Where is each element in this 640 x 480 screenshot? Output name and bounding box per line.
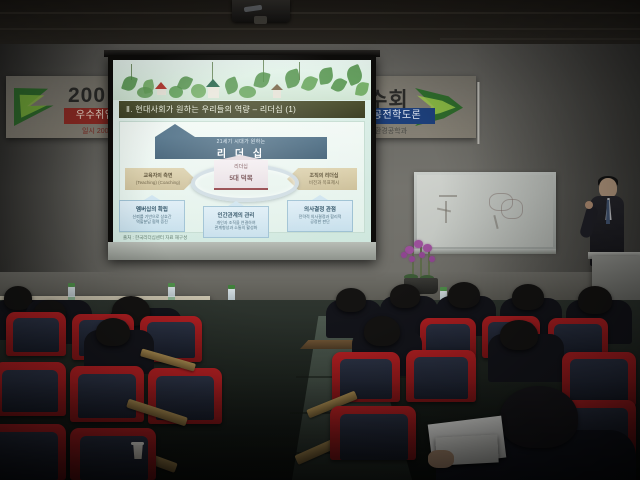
orchid-bloom	[409, 256, 415, 262]
audience-head-foreground	[500, 386, 578, 448]
bottle-cap	[228, 285, 235, 289]
slide-title: Ⅱ. 현대사회가 원하는 우리들의 역량 – 리더십 (1)	[119, 101, 365, 118]
audience-head	[578, 286, 612, 314]
slide-roof-peak	[155, 124, 195, 137]
seat-cushion	[340, 414, 408, 460]
audience-hand	[428, 450, 454, 468]
slide-hub-line2: 5대 덕목	[214, 172, 268, 182]
seat-cushion	[2, 370, 58, 412]
orchid-bloom	[423, 244, 432, 252]
orchid-bloom	[414, 240, 423, 248]
whiteboard-marker-tray	[414, 249, 556, 254]
audience-head	[390, 284, 420, 308]
slide-right-arrow-sub: 비전과 목표제시	[291, 180, 357, 186]
banner-year: 200	[68, 84, 106, 108]
slide-box-heading: 의사결정 관점	[287, 205, 353, 213]
seat-cushion	[570, 359, 628, 403]
slide-roof-subtitle: 21세기 시대가 원하는	[155, 138, 327, 145]
ceiling-seam	[0, 28, 640, 30]
screen-lower-panel	[108, 242, 376, 260]
slide-left-arrow-sub: (Teaching) (Coaching)	[125, 180, 191, 185]
banner-pole	[477, 82, 480, 144]
audience-head	[512, 284, 544, 310]
slide-box-sub: 개인과 조직을 연결하여 관계형성과 소통의 활성화	[205, 220, 267, 231]
ceiling-seam	[440, 38, 640, 40]
seat-cushion	[0, 432, 58, 480]
whiteboard-surface	[417, 175, 553, 247]
audience-head	[448, 282, 480, 308]
slide-hub-line1: 리더십	[214, 163, 268, 170]
orchid-bloom	[429, 256, 435, 262]
bottle-cap	[168, 283, 175, 287]
orchid-bloom	[419, 252, 425, 258]
slide-box-heading: 인간관계의 관리	[203, 211, 269, 219]
audience-head	[336, 288, 366, 312]
slide-leaf-header	[113, 60, 371, 100]
seat-cushion	[78, 374, 136, 418]
presenter-head	[599, 178, 617, 198]
audience-head	[364, 316, 400, 346]
bottle-cap	[68, 283, 75, 287]
ceiling-seam	[0, 12, 640, 14]
slide-box-sub: 신뢰를 기반으로 상호간 역할분담 협력 증진	[121, 214, 183, 225]
projected-slide: Ⅱ. 현대사회가 원하는 우리들의 역량 – 리더십 (1) 21세기 시대가 …	[113, 60, 371, 242]
slide-box-heading: 멤버십의 확립	[119, 205, 185, 213]
orchid-bloom	[401, 252, 407, 258]
seat-cushion	[13, 318, 59, 352]
projector-lens	[254, 16, 267, 24]
audience-head	[96, 318, 130, 346]
audience-head	[500, 320, 538, 350]
slide-left-arrow-heading: 교육자의 측면	[125, 172, 191, 179]
coffee-cup-rim	[131, 442, 144, 445]
presenter-hand	[585, 201, 593, 209]
slide-right-arrow-heading: 조직의 리더십	[291, 172, 357, 179]
slide-footer: 출처 : 한국리더십센터 자료 재구성	[123, 235, 187, 241]
slide-box-sub: 전략적 의사결정과 합리적 공정한 판단	[289, 214, 351, 225]
bottle-cap	[440, 287, 447, 291]
lecture-hall-photo: 200 수회 우수취업사 공전학도론 일시 2009. 학교 환경공학과	[0, 0, 640, 480]
banner-logo-left-icon	[14, 84, 68, 130]
seat-cushion	[414, 357, 468, 399]
